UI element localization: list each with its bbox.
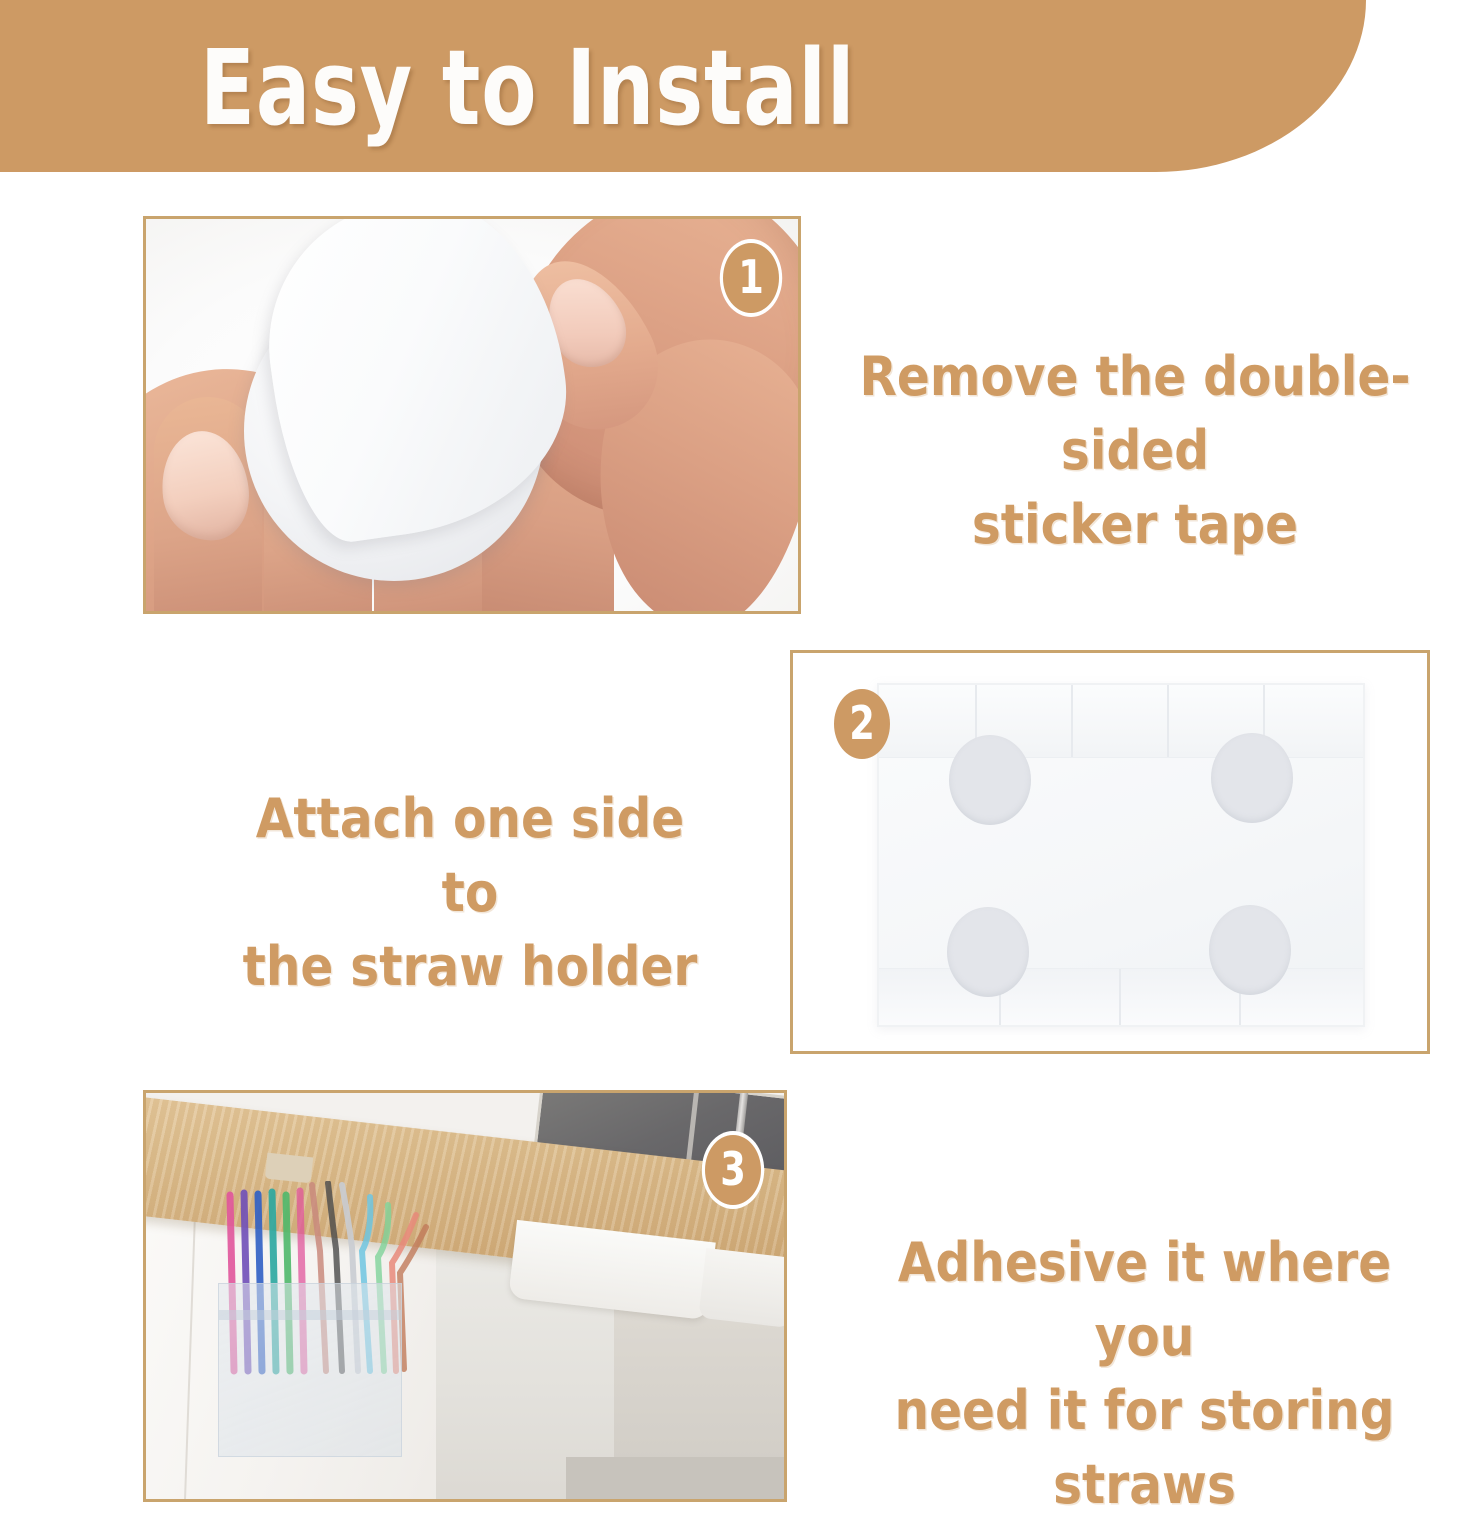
step-1-caption-line-2: sticker tape [827,488,1443,562]
straw-holder-panel [877,683,1365,1027]
step-1-caption: Remove the double-sided sticker tape [827,340,1443,562]
step-3-number: 3 [720,1146,746,1192]
step-2-number: 2 [849,700,875,746]
adhesive-pad [947,907,1029,997]
holder-slot [1071,685,1073,757]
step-2-caption: Attach one side to the straw holder [227,782,713,1004]
under-counter-basket [698,1248,787,1328]
holder-slot [1167,685,1169,757]
holder-top-lip [879,685,1363,758]
holder-bottom-lip [879,968,1363,1025]
adhesive-pad [1211,733,1293,823]
page-title: Easy to Install [200,28,855,148]
header-banner: Easy to Install [0,0,1366,172]
step-1-badge: 1 [723,243,779,313]
step-2-photo-frame: 2 [790,650,1430,1054]
step-1-photo-frame: 1 [143,216,801,614]
adhesive-pad [949,735,1031,825]
step-2-badge: 2 [834,689,890,759]
step-2-caption-line-1: Attach one side to [227,782,713,930]
cabinet-floor [566,1457,787,1499]
step-3-badge: 3 [705,1135,761,1205]
holder-band [219,1310,401,1320]
adhesive-pad [1209,905,1291,995]
step-2-caption-line-2: the straw holder [227,930,713,1004]
mounted-straw-holder [218,1283,402,1457]
step-3-photo-frame: 3 [143,1090,787,1502]
step-1-number: 1 [738,254,764,300]
holder-slot [1119,969,1121,1025]
step-1-caption-line-1: Remove the double-sided [827,340,1443,488]
step-3-caption-line-1: Adhesive it where you [845,1226,1444,1374]
counter-tab-clip [265,1153,313,1184]
step-3-caption: Adhesive it where you need it for storin… [845,1226,1444,1522]
